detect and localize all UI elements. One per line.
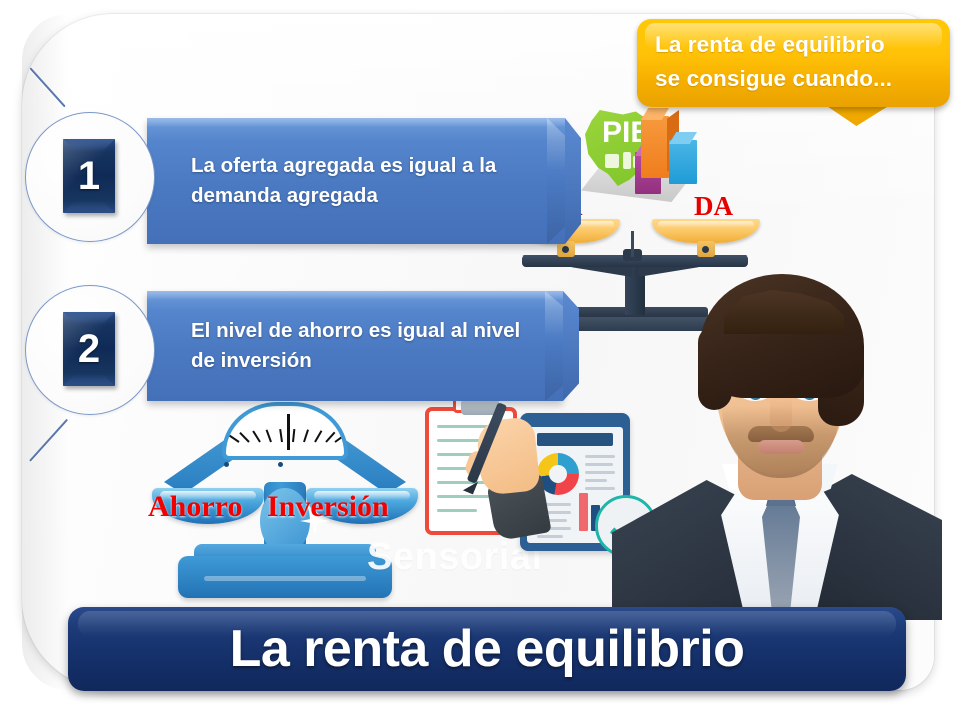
chart-bar-blue-icon <box>669 140 697 184</box>
bar-arrow-cap <box>563 291 579 401</box>
point-text-2: El nivel de ahorro es igual al nivel de … <box>191 316 541 376</box>
weighing-bolt-right <box>278 462 283 467</box>
bar-bevel <box>547 118 565 244</box>
bar-arrow-cap <box>565 118 581 244</box>
callout-text: La renta de equilibrio se consigue cuand… <box>655 28 940 96</box>
nose <box>770 396 792 432</box>
callout-bubble: La renta de equilibrio se consigue cuand… <box>637 19 950 107</box>
lips <box>758 440 804 454</box>
point-bar-2[interactable]: El nivel de ahorro es igual al nivel de … <box>147 291 563 401</box>
title-banner: La renta de equilibrio <box>68 607 906 691</box>
slide-title: La renta de equilibrio <box>68 607 906 691</box>
label-inversion: Inversión <box>267 490 389 524</box>
label-da: DA <box>694 191 733 222</box>
point-text-1: La oferta agregada es igual a la demanda… <box>191 151 543 211</box>
weighing-scale-dial <box>222 402 348 460</box>
report-header-band <box>537 433 613 446</box>
bar-highlight <box>147 118 565 127</box>
scale-bolt-right <box>702 246 709 253</box>
point-number-1: 1 <box>63 139 115 213</box>
pib-gdp-icon: PIB <box>577 106 701 202</box>
dial-needle-icon <box>287 414 290 450</box>
callout-line-2: se consigue cuando... <box>655 62 940 96</box>
slide-canvas: PIB SA DA <box>0 0 960 720</box>
label-ahorro: Ahorro <box>148 490 242 524</box>
bar-bevel <box>545 291 563 401</box>
chart-bar-orange-icon <box>641 116 669 178</box>
scale-bolt-left <box>562 246 569 253</box>
point-bar-1[interactable]: La oferta agregada es igual a la demanda… <box>147 118 565 244</box>
point-number-badge-1: 1 <box>63 139 115 213</box>
scale-needle <box>631 231 634 257</box>
callout-line-1: La renta de equilibrio <box>655 28 940 62</box>
scale-pan-right <box>652 219 760 243</box>
mini-bar-red <box>579 493 588 531</box>
businessman-illustration <box>612 268 942 620</box>
weighing-bolt-left <box>224 462 229 467</box>
bar-highlight <box>147 291 563 300</box>
weighing-base-line <box>204 576 366 581</box>
point-number-badge-2: 2 <box>63 312 115 386</box>
point-number-2: 2 <box>63 312 115 386</box>
